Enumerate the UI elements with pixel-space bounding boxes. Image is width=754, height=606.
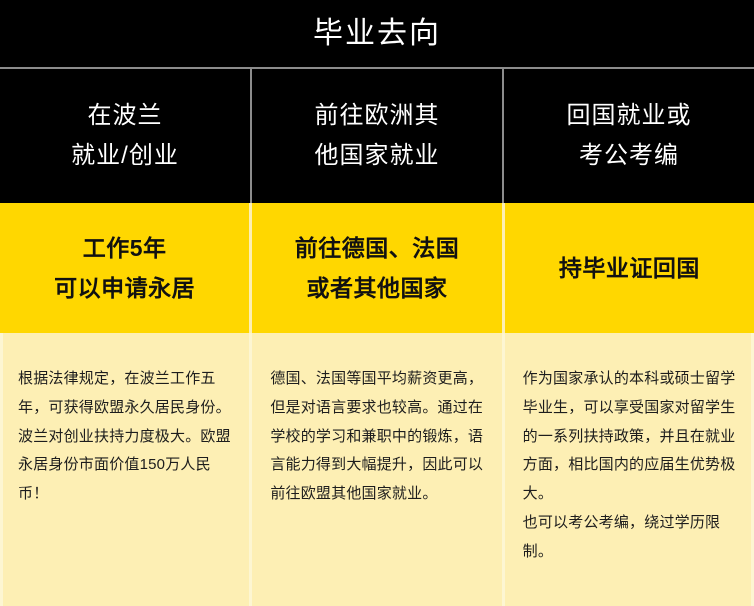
highlight-line: 持毕业证回国 (559, 248, 700, 288)
column-header-line: 前往欧洲其 (315, 96, 440, 136)
highlight-cell-europe: 前往德国、法国 或者其他国家 (249, 203, 501, 333)
column-header-row: 在波兰 就业/创业 前往欧洲其 他国家就业 回国就业或 考公考编 (0, 69, 754, 203)
highlight-line: 前往德国、法国 (295, 228, 460, 268)
highlight-cell-poland: 工作5年 可以申请永居 (0, 203, 249, 333)
column-header-line: 在波兰 (88, 96, 163, 136)
body-cell-china: 作为国家承认的本科或硕士留学毕业生，可以享受国家对留学生的一系列扶持政策，并且在… (502, 333, 754, 606)
body-cell-europe: 德国、法国等国平均薪资更高，但是对语言要求也较高。通过在学校的学习和兼职中的锻炼… (249, 333, 501, 606)
column-header-line: 就业/创业 (71, 136, 179, 176)
column-header-china: 回国就业或 考公考编 (502, 69, 754, 203)
column-header-europe: 前往欧洲其 他国家就业 (250, 69, 502, 203)
column-header-line: 回国就业或 (567, 96, 692, 136)
column-header-line: 他国家就业 (315, 136, 440, 176)
body-paragraph: 根据法律规定，在波兰工作五年，可获得欧盟永久居民身份。 波兰对创业扶持力度极大。… (18, 365, 233, 509)
highlight-line: 工作5年 (83, 228, 167, 268)
highlight-line: 可以申请永居 (54, 268, 195, 308)
body-left-edge-line (0, 333, 3, 606)
column-header-poland: 在波兰 就业/创业 (0, 69, 250, 203)
highlight-line: 或者其他国家 (306, 268, 447, 308)
graduation-destinations-infographic: 毕业去向 在波兰 就业/创业 前往欧洲其 他国家就业 回国就业或 考公考编 工作… (0, 0, 754, 606)
highlight-cell-china: 持毕业证回国 (502, 203, 754, 333)
infographic-title-band: 毕业去向 (0, 0, 754, 67)
body-cell-poland: 根据法律规定，在波兰工作五年，可获得欧盟永久居民身份。 波兰对创业扶持力度极大。… (0, 333, 249, 606)
page-title: 毕业去向 (313, 19, 441, 49)
body-row: 根据法律规定，在波兰工作五年，可获得欧盟永久居民身份。 波兰对创业扶持力度极大。… (0, 333, 754, 606)
highlight-row: 工作5年 可以申请永居 前往德国、法国 或者其他国家 持毕业证回国 (0, 203, 754, 333)
body-paragraph: 德国、法国等国平均薪资更高，但是对语言要求也较高。通过在学校的学习和兼职中的锻炼… (270, 365, 485, 509)
column-header-line: 考公考编 (579, 136, 679, 176)
body-paragraph: 作为国家承认的本科或硕士留学毕业生，可以享受国家对留学生的一系列扶持政策，并且在… (523, 365, 738, 567)
